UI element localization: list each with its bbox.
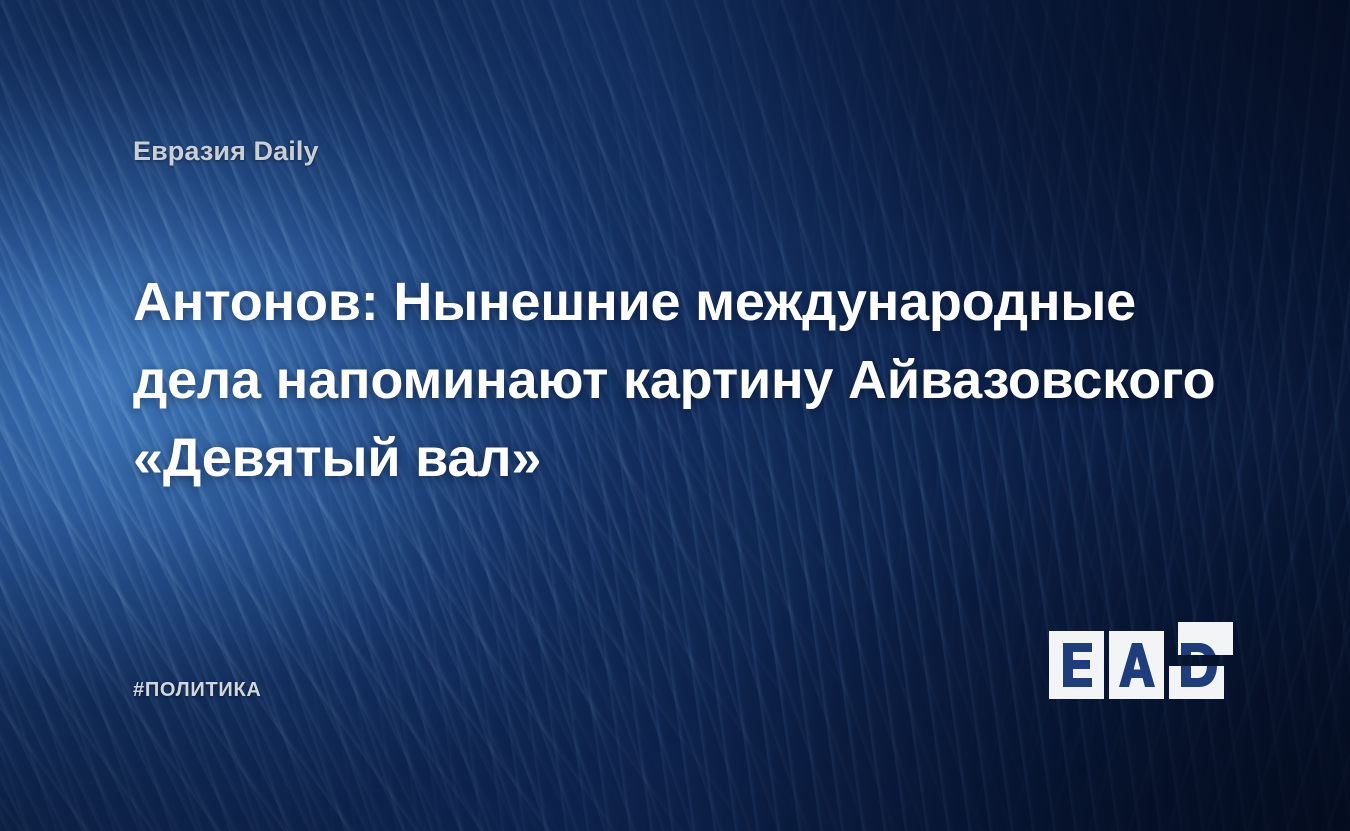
logo-tile-d-top-half <box>1178 622 1233 655</box>
logo-tile-a <box>1109 631 1164 699</box>
card-content: Евразия Daily Антонов: Нынешние междунар… <box>0 0 1350 831</box>
news-share-card: Евразия Daily Антонов: Нынешние междунар… <box>0 0 1350 831</box>
brand-wordmark: Евразия Daily <box>133 136 319 167</box>
headline-title: Антонов: Нынешние международные дела нап… <box>133 263 1243 497</box>
category-hashtag: #ПОЛИТИКА <box>133 679 262 702</box>
logo-tile-d-bottom-half <box>1169 666 1224 699</box>
ead-logo <box>1049 631 1225 699</box>
logo-tile-d <box>1169 631 1224 699</box>
logo-tile-e <box>1049 631 1104 699</box>
